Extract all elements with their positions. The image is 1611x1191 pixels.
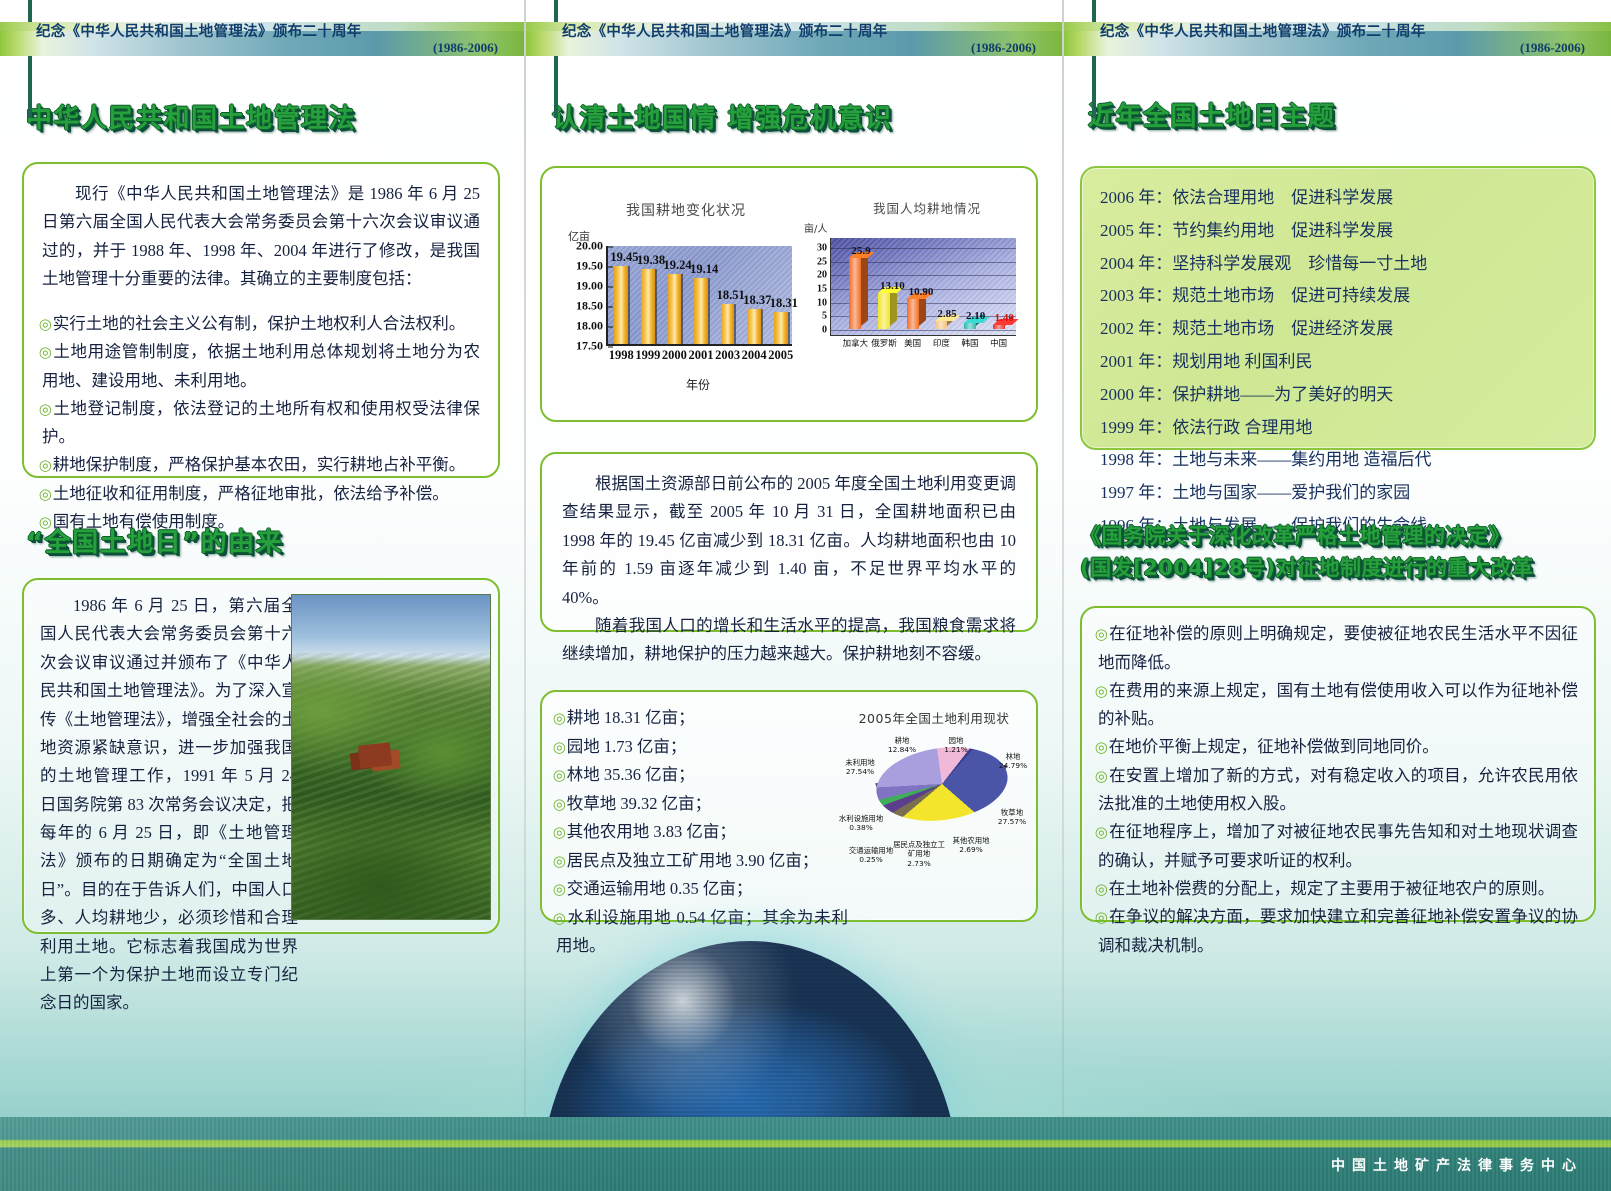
chart1-category-label: 2005 xyxy=(768,348,793,363)
chart2-y-unit: 亩/人 xyxy=(804,220,827,235)
panel2-landuse-box: ◎耕地 18.31 亿亩；◎园地 1.73 亿亩；◎林地 35.36 亿亩；◎牧… xyxy=(540,690,1038,922)
panel1-intro-text: 现行《中华人民共和国土地管理法》是 1986 年 6 月 25 日第六届全国人民… xyxy=(42,180,480,294)
panel2-landuse-item-text: 林地 35.36 亿亩； xyxy=(567,765,695,784)
chart1-category-label: 1999 xyxy=(635,348,660,363)
panel1-bullet-item-text: 土地登记制度，依法登记的土地所有权和使用权受法律保护。 xyxy=(42,399,480,447)
panel1-bullet-item-text: 土地用途管制制度，依据土地利用总体规划将土地分为农用地、建设用地、未利用地。 xyxy=(42,342,480,390)
fold-line-left xyxy=(524,0,526,1191)
pie-label-lindi-value: 24.79% xyxy=(999,761,1027,770)
pie-label-jiaotong-value: 0.25% xyxy=(859,855,882,864)
panel3-reform-item: ◎在地价平衡上规定，征地补偿做到同地同价。 xyxy=(1098,733,1578,762)
fold-line-right xyxy=(1062,0,1064,1191)
panel2-landuse-item-text: 其他农用地 3.83 亿亩； xyxy=(567,822,736,841)
panel2-landuse-item: ◎其他农用地 3.83 亿亩； xyxy=(556,818,848,847)
bullet-circle-icon: ◎ xyxy=(39,402,54,418)
pie-label-shuili-name: 水利设施用地 xyxy=(839,814,883,823)
panel3-theme-item: 2000 年：保护耕地——为了美好的明天 xyxy=(1100,379,1576,412)
bullet-circle-icon: ◎ xyxy=(1095,740,1109,756)
photo-farmhouse-roof xyxy=(358,742,392,768)
panel2-landuse-item: ◎交通运输用地 0.35 亿亩； xyxy=(556,875,848,904)
header-tick-mark xyxy=(1092,0,1096,22)
bullet-circle-icon: ◎ xyxy=(553,740,567,756)
chart1-y-tick: 17.50 xyxy=(576,339,608,354)
panel3-reform-item: ◎在征地补偿的原则上明确规定，要使被征地农民生活水平不因征地而降低。 xyxy=(1098,620,1578,677)
panel1-bullet-item: ◎土地登记制度，依法登记的土地所有权和使用权受法律保护。 xyxy=(42,395,480,452)
chart2-value-label: 25.9 xyxy=(851,245,870,257)
header-commemoration-title: 纪念《中华人民共和国土地管理法》颁布二十周年 xyxy=(562,20,888,41)
bullet-circle-icon: ◎ xyxy=(553,797,567,813)
panel3-reforms-box: ◎在征地补偿的原则上明确规定，要使被征地农民生活水平不因征地而降低。◎在费用的来… xyxy=(1080,606,1596,922)
panel3-reform-item-text: 在费用的来源上规定，国有土地有偿使用收入可以作为征地补偿的补贴。 xyxy=(1098,681,1578,729)
panel2-header: 纪念《中华人民共和国土地管理法》颁布二十周年 (1986-2006) xyxy=(526,0,1062,62)
chart1-value-label: 19.45 xyxy=(610,250,638,265)
panel3-theme-item: 2006 年：依法合理用地 促进科学发展 xyxy=(1100,182,1576,215)
photo-hills xyxy=(291,653,491,920)
pie-title: 2005年全国土地利用现状 xyxy=(834,708,1034,727)
bullet-circle-icon: ◎ xyxy=(39,345,54,361)
chart2-y-tick: 15 xyxy=(817,284,831,295)
pie-label-weiliyong-name: 未利用地 xyxy=(845,758,875,767)
pie-label-lindi-name: 林地 xyxy=(1006,752,1021,761)
chart2-category-label: 加拿大 xyxy=(843,337,869,349)
chart1-value-label: 18.51 xyxy=(717,288,745,303)
header-tick-mark-lower xyxy=(1092,56,1096,118)
chart2-value-label: 1.40 xyxy=(995,312,1014,324)
brochure-page: 纪念《中华人民共和国土地管理法》颁布二十周年 (1986-2006) 中华人民共… xyxy=(0,0,1611,1191)
panel3-theme-item: 2004 年：坚持科学发展观 珍惜每一寸土地 xyxy=(1100,248,1576,281)
chart2-bar-face xyxy=(849,258,861,329)
chart1-bar xyxy=(694,278,708,344)
panel2-charts-box: 我国耕地变化状况 亿亩 20.0019.5019.0018.5018.0017.… xyxy=(540,166,1038,422)
panel1-law-box: 现行《中华人民共和国土地管理法》是 1986 年 6 月 25 日第六届全国人民… xyxy=(22,162,500,478)
panel3-theme-item: 2005 年：节约集约用地 促进科学发展 xyxy=(1100,215,1576,248)
chart2-value-label: 10.90 xyxy=(909,286,934,298)
chart1-bar xyxy=(747,309,761,344)
pie-label-gengdi-value: 12.84% xyxy=(888,745,916,754)
panel2-landuse-item-text: 居民点及独立工矿用地 3.90 亿亩； xyxy=(567,851,819,870)
panel1-bullet-item-text: 实行土地的社会主义公有制，保护土地权利人合法权利。 xyxy=(53,314,466,333)
pie-label-lindi: 林地 24.79% xyxy=(992,752,1034,771)
panel3-header: 纪念《中华人民共和国土地管理法》颁布二十周年 (1986-2006) xyxy=(1064,0,1611,62)
pie-label-qitanongyong: 其他农用地 2.69% xyxy=(944,836,998,855)
panel1-bullet-list: ◎实行土地的社会主义公有制，保护土地权利人合法权利。◎土地用途管制制度，依据土地… xyxy=(42,310,480,537)
chart-landuse-pie: 2005年全国土地利用现状 耕地 12.84% 园地 1.21% 林地 24.7… xyxy=(834,696,1034,896)
panel3-themes-box: 2006 年：依法合理用地 促进科学发展2005 年：节约集约用地 促进科学发展… xyxy=(1080,166,1596,450)
chart2-y-tick: 5 xyxy=(822,311,831,322)
chart2-bar-face xyxy=(964,323,976,329)
pie-label-yuandi-value: 1.21% xyxy=(944,745,967,754)
bullet-circle-icon: ◎ xyxy=(1095,684,1109,700)
pie-label-qitanongyong-value: 2.69% xyxy=(959,845,982,854)
panel3-reform-item-text: 在土地补偿费的分配上，规定了主要用于被征地农户的原则。 xyxy=(1109,879,1555,898)
panel1-bullet-item-text: 耕地保护制度，严格保护基本农田，实行耕地占补平衡。 xyxy=(53,455,466,474)
chart1-y-tick: 20.00 xyxy=(576,239,608,254)
chart2-category-label: 美国 xyxy=(904,337,921,349)
panel-left: 纪念《中华人民共和国土地管理法》颁布二十周年 (1986-2006) 中华人民共… xyxy=(0,0,524,1191)
panel3-reform-item-text: 在地价平衡上规定，征地补偿做到同地同价。 xyxy=(1109,737,1439,756)
panel3-theme-item: 2001 年：规划用地 利国利民 xyxy=(1100,346,1576,379)
panel2-landuse-item-text: 牧草地 39.32 亿亩； xyxy=(567,794,711,813)
panel1-heading-land-law: 中华人民共和国土地管理法 xyxy=(26,104,356,135)
chart1-title: 我国耕地变化状况 xyxy=(586,200,786,220)
panel3-theme-item: 2003 年：规范土地市场 促进可持续发展 xyxy=(1100,280,1576,313)
bullet-circle-icon: ◎ xyxy=(1095,825,1109,841)
panel3-theme-item: 1999 年：依法行政 合理用地 xyxy=(1100,412,1576,445)
panel3-theme-item: 2002 年：规范土地市场 促进经济发展 xyxy=(1100,313,1576,346)
chart1-y-tick: 18.00 xyxy=(576,319,608,334)
panel2-landuse-list: ◎耕地 18.31 亿亩；◎园地 1.73 亿亩；◎林地 35.36 亿亩；◎牧… xyxy=(556,704,848,960)
chart2-category-label: 韩国 xyxy=(961,337,978,349)
chart1-category-label: 2000 xyxy=(662,348,687,363)
header-tick-mark xyxy=(554,0,558,22)
chart1-value-label: 18.31 xyxy=(770,296,798,311)
chart1-bar xyxy=(668,274,682,344)
pie-label-yuandi-name: 园地 xyxy=(949,736,964,745)
chart1-plot-area: 20.0019.5019.0018.5018.0017.5019.4519981… xyxy=(606,246,792,346)
panel2-landuse-item: ◎林地 35.36 亿亩； xyxy=(556,761,848,790)
chart2-bar-face xyxy=(907,299,919,329)
header-tick-mark xyxy=(28,0,32,22)
panel3-reform-item-text: 在争议的解决方面，要求加快建立和完善征地补偿安置争议的协调和裁决机制。 xyxy=(1098,907,1578,955)
panel2-landuse-item-text: 交通运输用地 0.35 亿亩； xyxy=(567,879,753,898)
panel2-landuse-item: ◎牧草地 39.32 亿亩； xyxy=(556,790,848,819)
chart1-value-label: 19.14 xyxy=(690,262,718,277)
panel2-landuse-item: ◎居民点及独立工矿用地 3.90 亿亩； xyxy=(556,847,848,876)
chart2-category-label: 中国 xyxy=(990,337,1007,349)
bullet-circle-icon: ◎ xyxy=(553,911,568,927)
header-tick-mark-lower xyxy=(554,56,558,118)
pie-label-mucaodi: 牧草地 27.57% xyxy=(990,808,1034,827)
bullet-circle-icon: ◎ xyxy=(39,317,53,333)
terraced-field-photo xyxy=(291,594,491,920)
panel3-heading-land-day-themes: 近年全国土地日主题 xyxy=(1088,102,1336,133)
panel1-origin-text: 1986 年 6 月 25 日，第六届全国人民代表大会常务委员会第十六次会议审议… xyxy=(40,592,298,1018)
chart2-y-tick: 30 xyxy=(817,243,831,254)
bullet-circle-icon: ◎ xyxy=(553,711,567,727)
panel2-landuse-item-text: 耕地 18.31 亿亩； xyxy=(567,708,695,727)
panel3-theme-list: 2006 年：依法合理用地 促进科学发展2005 年：节约集约用地 促进科学发展… xyxy=(1100,182,1576,543)
chart2-bar xyxy=(935,321,947,329)
panel2-statistics-box: 根据国土资源部日前公布的 2005 年度全国土地利用变更调查结果显示，截至 20… xyxy=(540,452,1038,632)
header-year-range: (1986-2006) xyxy=(1520,40,1585,56)
pie-label-jumindian: 居民点及独立工矿用地 2.73% xyxy=(892,840,946,868)
chart2-bar xyxy=(964,323,976,329)
panel-right: 纪念《中华人民共和国土地管理法》颁布二十周年 (1986-2006) 近年全国土… xyxy=(1064,0,1611,1191)
panel3-reform-item: ◎在安置上增加了新的方式，对有稳定收入的项目，允许农民用依法批准的土地使用权入股… xyxy=(1098,762,1578,819)
chart2-category-label: 俄罗斯 xyxy=(871,337,897,349)
pie-label-mucaodi-value: 27.57% xyxy=(998,817,1026,826)
pie-label-mucaodi-name: 牧草地 xyxy=(1001,808,1023,817)
panel2-landuse-item-text: 园地 1.73 亿亩； xyxy=(567,737,687,756)
chart2-value-label: 2.10 xyxy=(966,310,985,322)
pie-label-yuandi: 园地 1.21% xyxy=(937,736,975,755)
bullet-circle-icon: ◎ xyxy=(1095,769,1109,785)
chart2-bar-face xyxy=(993,325,1005,329)
chart1-bar xyxy=(641,269,655,344)
chart2-y-tick: 0 xyxy=(822,325,831,336)
chart2-gridline xyxy=(831,330,1016,331)
bullet-circle-icon: ◎ xyxy=(553,825,567,841)
panel1-header: 纪念《中华人民共和国土地管理法》颁布二十周年 (1986-2006) xyxy=(0,0,524,62)
panel2-landuse-item: ◎耕地 18.31 亿亩； xyxy=(556,704,848,733)
footer-organization-name: 中国土地矿产法律事务中心 xyxy=(1331,1155,1583,1175)
chart-cultivated-land-change: 我国耕地变化状况 亿亩 20.0019.5019.0018.5018.0017.… xyxy=(560,180,800,410)
chart1-y-tick: 19.00 xyxy=(576,279,608,294)
bullet-circle-icon: ◎ xyxy=(553,854,567,870)
chart1-bar xyxy=(721,304,735,344)
chart2-bar xyxy=(849,258,861,329)
panel1-bullet-item: ◎土地征收和征用制度，严格征地审批，依法给予补偿。 xyxy=(42,480,480,509)
chart1-y-tick: 18.50 xyxy=(576,299,608,314)
pie-label-gengdi: 耕地 12.84% xyxy=(880,736,924,755)
chart2-value-label: 2.85 xyxy=(937,308,956,320)
panel3-reform-item: ◎在争议的解决方面，要求加快建立和完善征地补偿安置争议的协调和裁决机制。 xyxy=(1098,903,1578,960)
chart1-category-label: 2004 xyxy=(742,348,767,363)
chart2-bar-face xyxy=(935,321,947,329)
header-tick-mark-lower xyxy=(28,56,32,118)
chart1-value-label: 18.37 xyxy=(743,293,771,308)
bullet-circle-icon: ◎ xyxy=(39,487,53,503)
chart2-value-label: 13.10 xyxy=(880,280,905,292)
chart2-title: 我国人均耕地情况 xyxy=(832,198,1022,217)
panel3-heading-state-council-decision-line1: 《国务院关于深化改革严格土地管理的决定》 xyxy=(1080,524,1510,549)
panel1-bullet-item: ◎土地用途管制制度，依据土地利用总体规划将土地分为农用地、建设用地、未利用地。 xyxy=(42,338,480,395)
panel1-bullet-item: ◎耕地保护制度，严格保护基本农田，实行耕地占补平衡。 xyxy=(42,451,480,480)
panel3-theme-item: 1997 年：土地与国家——爱护我们的家园 xyxy=(1100,477,1576,510)
pie-label-weiliyong-value: 27.54% xyxy=(846,767,874,776)
chart2-plot-area: 05101520253025.9加拿大13.10俄罗斯10.90美国2.85印度… xyxy=(830,238,1016,336)
bullet-circle-icon: ◎ xyxy=(1095,627,1109,643)
panel1-heading-land-day-origin: “全国土地日”的由来 xyxy=(26,528,283,559)
panel2-stat-paragraph-2: 随着我国人口的增长和生活水平的提高，我国粮食需求将继续增加，耕地保护的压力越来越… xyxy=(562,612,1016,669)
bullet-circle-icon: ◎ xyxy=(553,882,567,898)
panel3-theme-item: 1998 年：土地与未来——集约用地 造福后代 xyxy=(1100,444,1576,477)
header-year-range: (1986-2006) xyxy=(971,40,1036,56)
panel1-intro-paragraph: 现行《中华人民共和国土地管理法》是 1986 年 6 月 25 日第六届全国人民… xyxy=(42,180,480,294)
page-footer: 中国土地矿产法律事务中心 xyxy=(0,1117,1611,1191)
header-year-range: (1986-2006) xyxy=(433,40,498,56)
panel1-bullet-item: ◎实行土地的社会主义公有制，保护土地权利人合法权利。 xyxy=(42,310,480,339)
chart2-category-label: 印度 xyxy=(933,337,950,349)
pie-label-qitanongyong-name: 其他农用地 xyxy=(953,836,990,845)
bullet-circle-icon: ◎ xyxy=(1095,882,1109,898)
chart2-bar xyxy=(907,299,919,329)
panel2-heading-land-situation: 认清土地国情 增强危机意识 xyxy=(552,104,893,135)
pie-label-jiaotong: 交通运输用地 0.25% xyxy=(848,846,894,865)
panel2-landuse-item: ◎园地 1.73 亿亩； xyxy=(556,733,848,762)
bullet-circle-icon: ◎ xyxy=(553,768,567,784)
panel3-reform-item: ◎在费用的来源上规定，国有土地有偿使用收入可以作为征地补偿的补贴。 xyxy=(1098,677,1578,734)
pie-label-shuili-value: 0.38% xyxy=(849,823,872,832)
chart1-category-label: 2003 xyxy=(715,348,740,363)
chart2-y-tick: 25 xyxy=(817,256,831,267)
pie-label-jiaotong-name: 交通运输用地 xyxy=(849,846,893,855)
bullet-circle-icon: ◎ xyxy=(39,458,53,474)
panel1-bullet-item-text: 土地征收和征用制度，严格征地审批，依法给予补偿。 xyxy=(53,484,449,503)
panel3-heading-state-council-decision-line2: (国发[2004]28号)对征地制度进行的重大改革 xyxy=(1080,556,1534,581)
chart2-y-tick: 10 xyxy=(817,297,831,308)
chart1-category-label: 1998 xyxy=(609,348,634,363)
chart2-bar-face xyxy=(878,293,890,329)
panel3-reform-item-text: 在安置上增加了新的方式，对有稳定收入的项目，允许农民用依法批准的土地使用权入股。 xyxy=(1098,766,1578,814)
chart1-x-label: 年份 xyxy=(686,376,710,393)
chart1-bar xyxy=(614,266,628,344)
chart1-value-label: 19.24 xyxy=(664,258,692,273)
pie-label-gengdi-name: 耕地 xyxy=(895,736,910,745)
chart1-bar xyxy=(774,312,788,344)
pie-label-shuili: 水利设施用地 0.38% xyxy=(836,814,886,833)
panel3-reform-item: ◎在土地补偿费的分配上，规定了主要用于被征地农户的原则。 xyxy=(1098,875,1578,904)
panel2-stat-paragraphs: 根据国土资源部日前公布的 2005 年度全国土地利用变更调查结果显示，截至 20… xyxy=(562,470,1016,669)
header-commemoration-title: 纪念《中华人民共和国土地管理法》颁布二十周年 xyxy=(36,20,362,41)
chart1-category-label: 2001 xyxy=(689,348,714,363)
chart2-y-tick: 20 xyxy=(817,270,831,281)
panel1-origin-paragraph: 1986 年 6 月 25 日，第六届全国人民代表大会常务委员会第十六次会议审议… xyxy=(40,592,298,1018)
bullet-circle-icon: ◎ xyxy=(1095,910,1109,926)
chart2-bar xyxy=(993,325,1005,329)
pie-label-weiliyong: 未利用地 27.54% xyxy=(836,758,884,777)
chart2-bar xyxy=(878,293,890,329)
chart1-y-tick: 19.50 xyxy=(576,259,608,274)
panel3-reform-item: ◎在征地程序上，增加了对被征地农民事先告知和对土地现状调查的确认，并赋予可要求听… xyxy=(1098,818,1578,875)
panel3-reform-list: ◎在征地补偿的原则上明确规定，要使被征地农民生活水平不因征地而降低。◎在费用的来… xyxy=(1098,620,1578,960)
chart1-value-label: 19.38 xyxy=(637,253,665,268)
chart2-bar-side xyxy=(861,249,868,326)
pie-label-jumindian-name: 居民点及独立工矿用地 xyxy=(893,840,945,858)
header-commemoration-title: 纪念《中华人民共和国土地管理法》颁布二十周年 xyxy=(1100,20,1426,41)
chart-per-capita-land: 我国人均耕地情况 亩/人 05101520253025.9加拿大13.10俄罗斯… xyxy=(798,180,1030,410)
footer-gradient xyxy=(0,1117,644,1191)
panel3-reform-item-text: 在征地补偿的原则上明确规定，要使被征地农民生活水平不因征地而降低。 xyxy=(1098,624,1578,672)
panel3-reform-item-text: 在征地程序上，增加了对被征地农民事先告知和对土地现状调查的确认，并赋予可要求听证… xyxy=(1098,822,1578,870)
panel2-stat-paragraph-1: 根据国土资源部日前公布的 2005 年度全国土地利用变更调查结果显示，截至 20… xyxy=(562,470,1016,612)
pie-label-jumindian-value: 2.73% xyxy=(907,859,930,868)
